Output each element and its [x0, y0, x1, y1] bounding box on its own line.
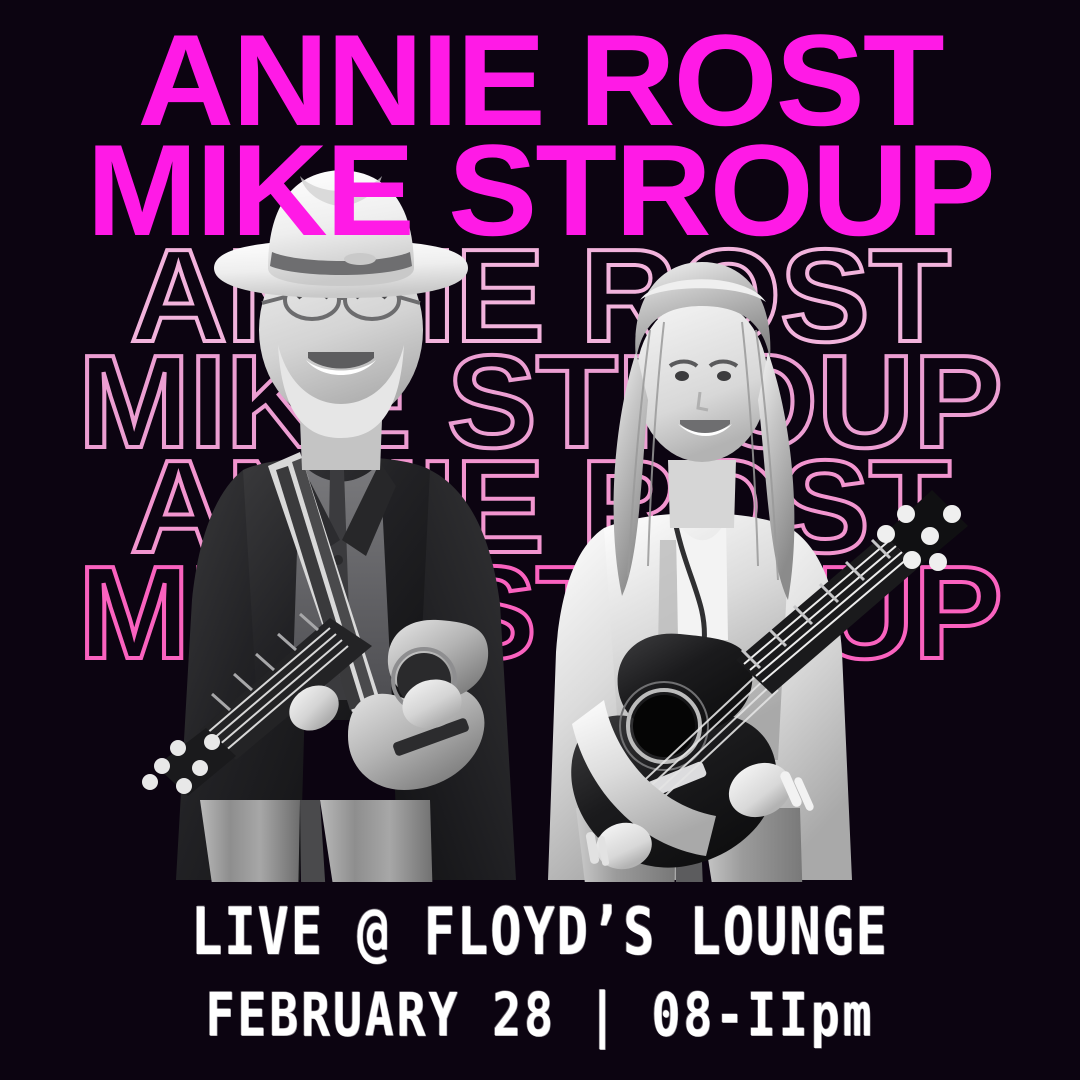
guitar-left: [142, 614, 488, 796]
ghost-headline-stack: ANNIE ROST MIKE STROUP ANNIE ROST MIKE S…: [0, 243, 1080, 665]
ghost-headline-row-4: MIKE STROUP: [0, 560, 1080, 666]
performer-left: [142, 170, 516, 1010]
headline-line-mike-stroup: MIKE STROUP: [0, 138, 1080, 242]
event-details: LIVE @ FLOYD’S LOUNGE FEBRUARY 28 | 08-I…: [0, 902, 1080, 1044]
headline-line-annie-rost: ANNIE ROST: [0, 28, 1080, 132]
date-time-text: FEBRUARY 28 | 08-IIpm: [11, 981, 1069, 1051]
venue-text: LIVE @ FLOYD’S LOUNGE: [11, 895, 1069, 969]
headline: ANNIE ROST MIKE STROUP: [0, 28, 1080, 242]
ghost-headline-row-1: ANNIE ROST: [0, 243, 1080, 349]
concert-poster: ANNIE ROST MIKE STROUP ANNIE ROST MIKE S…: [0, 0, 1080, 1080]
guitar-right: [571, 490, 968, 868]
ghost-headline-row-3: ANNIE ROST: [0, 454, 1080, 560]
ghost-headline-row-2: MIKE STROUP: [0, 349, 1080, 455]
